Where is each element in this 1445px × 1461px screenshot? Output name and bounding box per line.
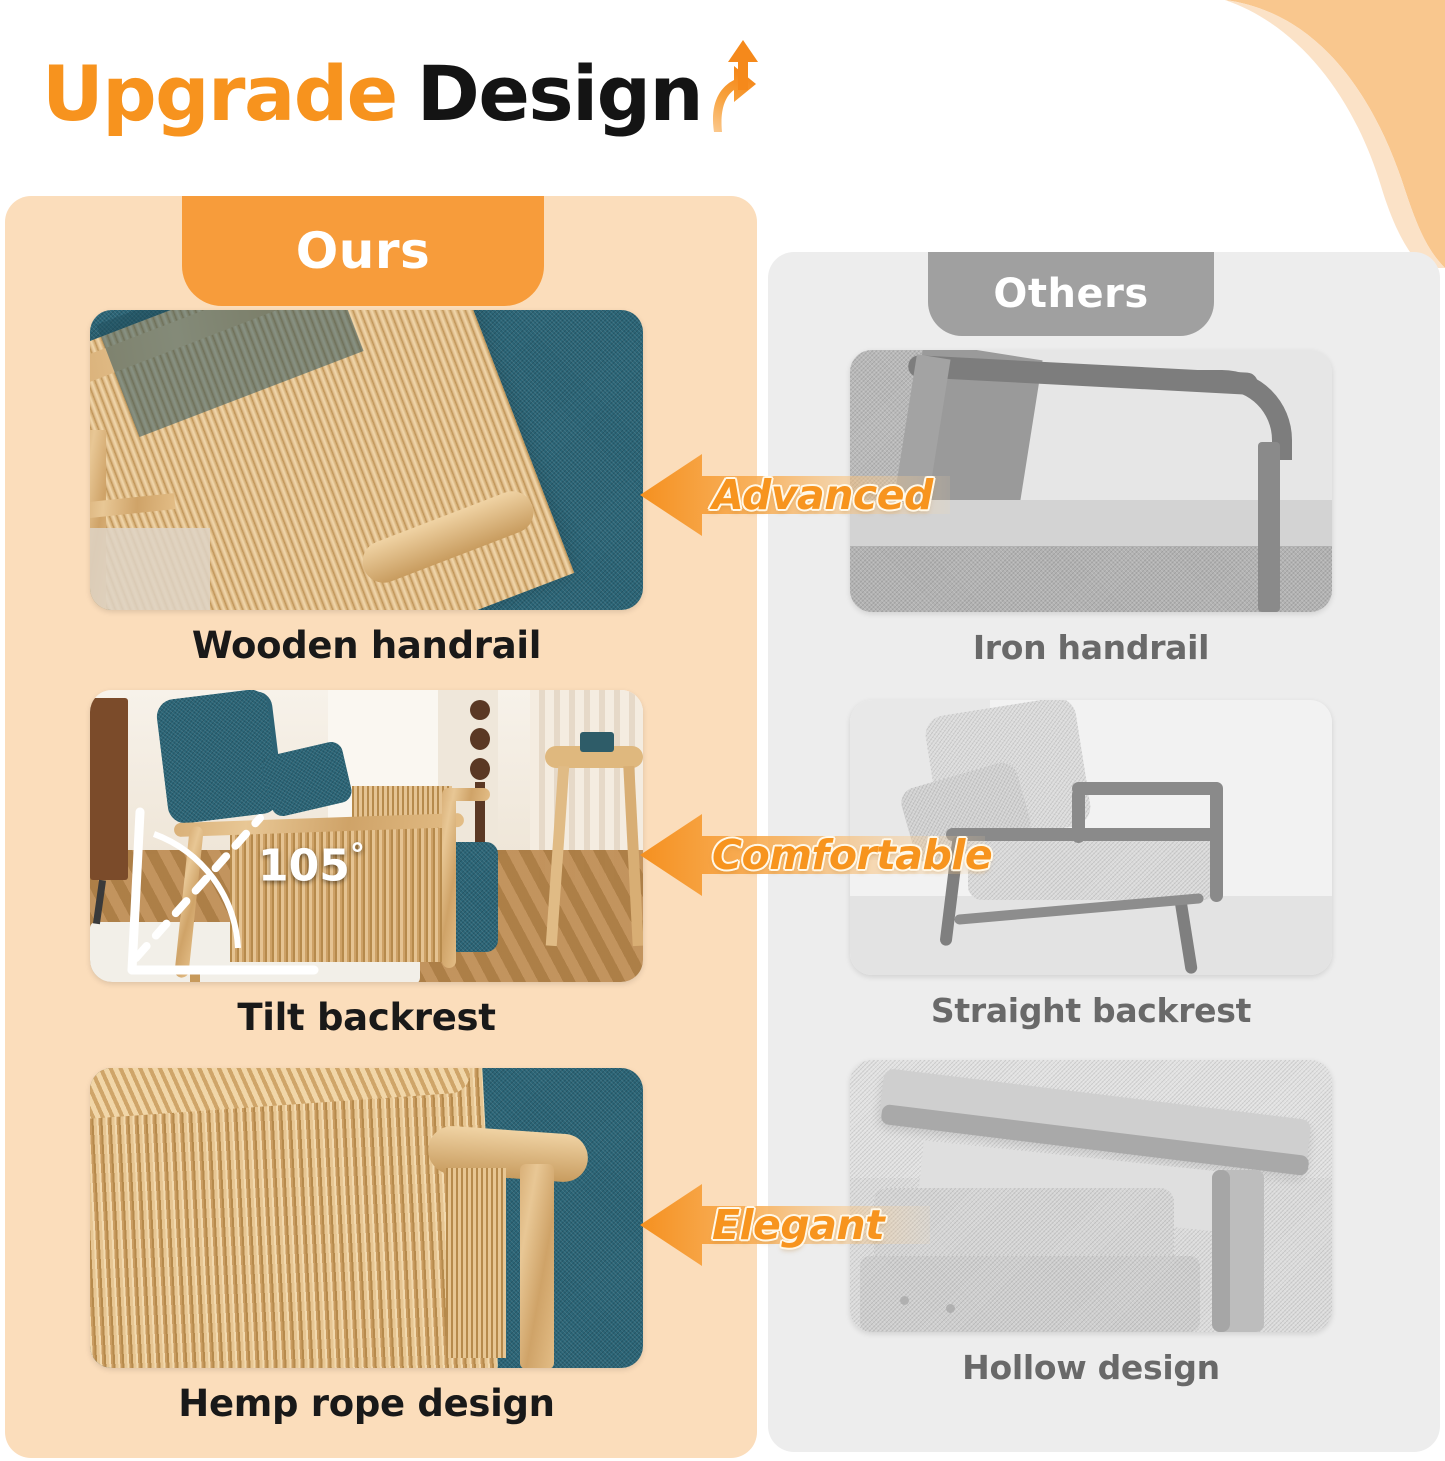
others-card-hollow-design: Hollow design [850,1060,1332,1387]
ours-card-wooden-handrail: Wooden handrail [90,310,643,667]
title-upgrade-word: Upgrade [42,56,397,132]
others-card-caption: Iron handrail [850,612,1332,667]
ours-card-caption: Wooden handrail [90,610,643,667]
living-room-chair-tilt-angle-photo: 105° [90,690,643,982]
ours-card-caption: Hemp rope design [90,1368,643,1425]
iron-handrail-grayscale-photo [850,350,1332,612]
woven-rope-backrest-with-wooden-handrail-photo [90,310,643,610]
others-card-iron-handrail: Iron handrail [850,350,1332,667]
curved-up-arrow-icon [708,40,766,138]
ours-card-hemp-rope-design: Hemp rope design [90,1068,643,1425]
ours-card-caption: Tilt backrest [90,982,643,1039]
ours-badge-label: Ours [296,222,431,280]
straight-backrest-gray-chair-photo [850,700,1332,975]
ours-card-tilt-backrest: 105° Tilt backrest [90,690,643,1039]
ours-badge: Ours [182,196,544,306]
tilt-angle-value: 105° [258,838,365,892]
corner-swoosh-decoration [1105,0,1445,270]
others-badge: Others [928,252,1214,336]
title-design-word: Design [417,56,702,132]
hemp-rope-weave-closeup-photo [90,1068,643,1368]
others-badge-label: Others [993,271,1148,317]
others-card-caption: Hollow design [850,1332,1332,1387]
hollow-frame-design-grayscale-photo [850,1060,1332,1332]
page-title: Upgrade Design [42,40,766,132]
others-card-caption: Straight backrest [850,975,1332,1030]
others-card-straight-backrest: Straight backrest [850,700,1332,1030]
